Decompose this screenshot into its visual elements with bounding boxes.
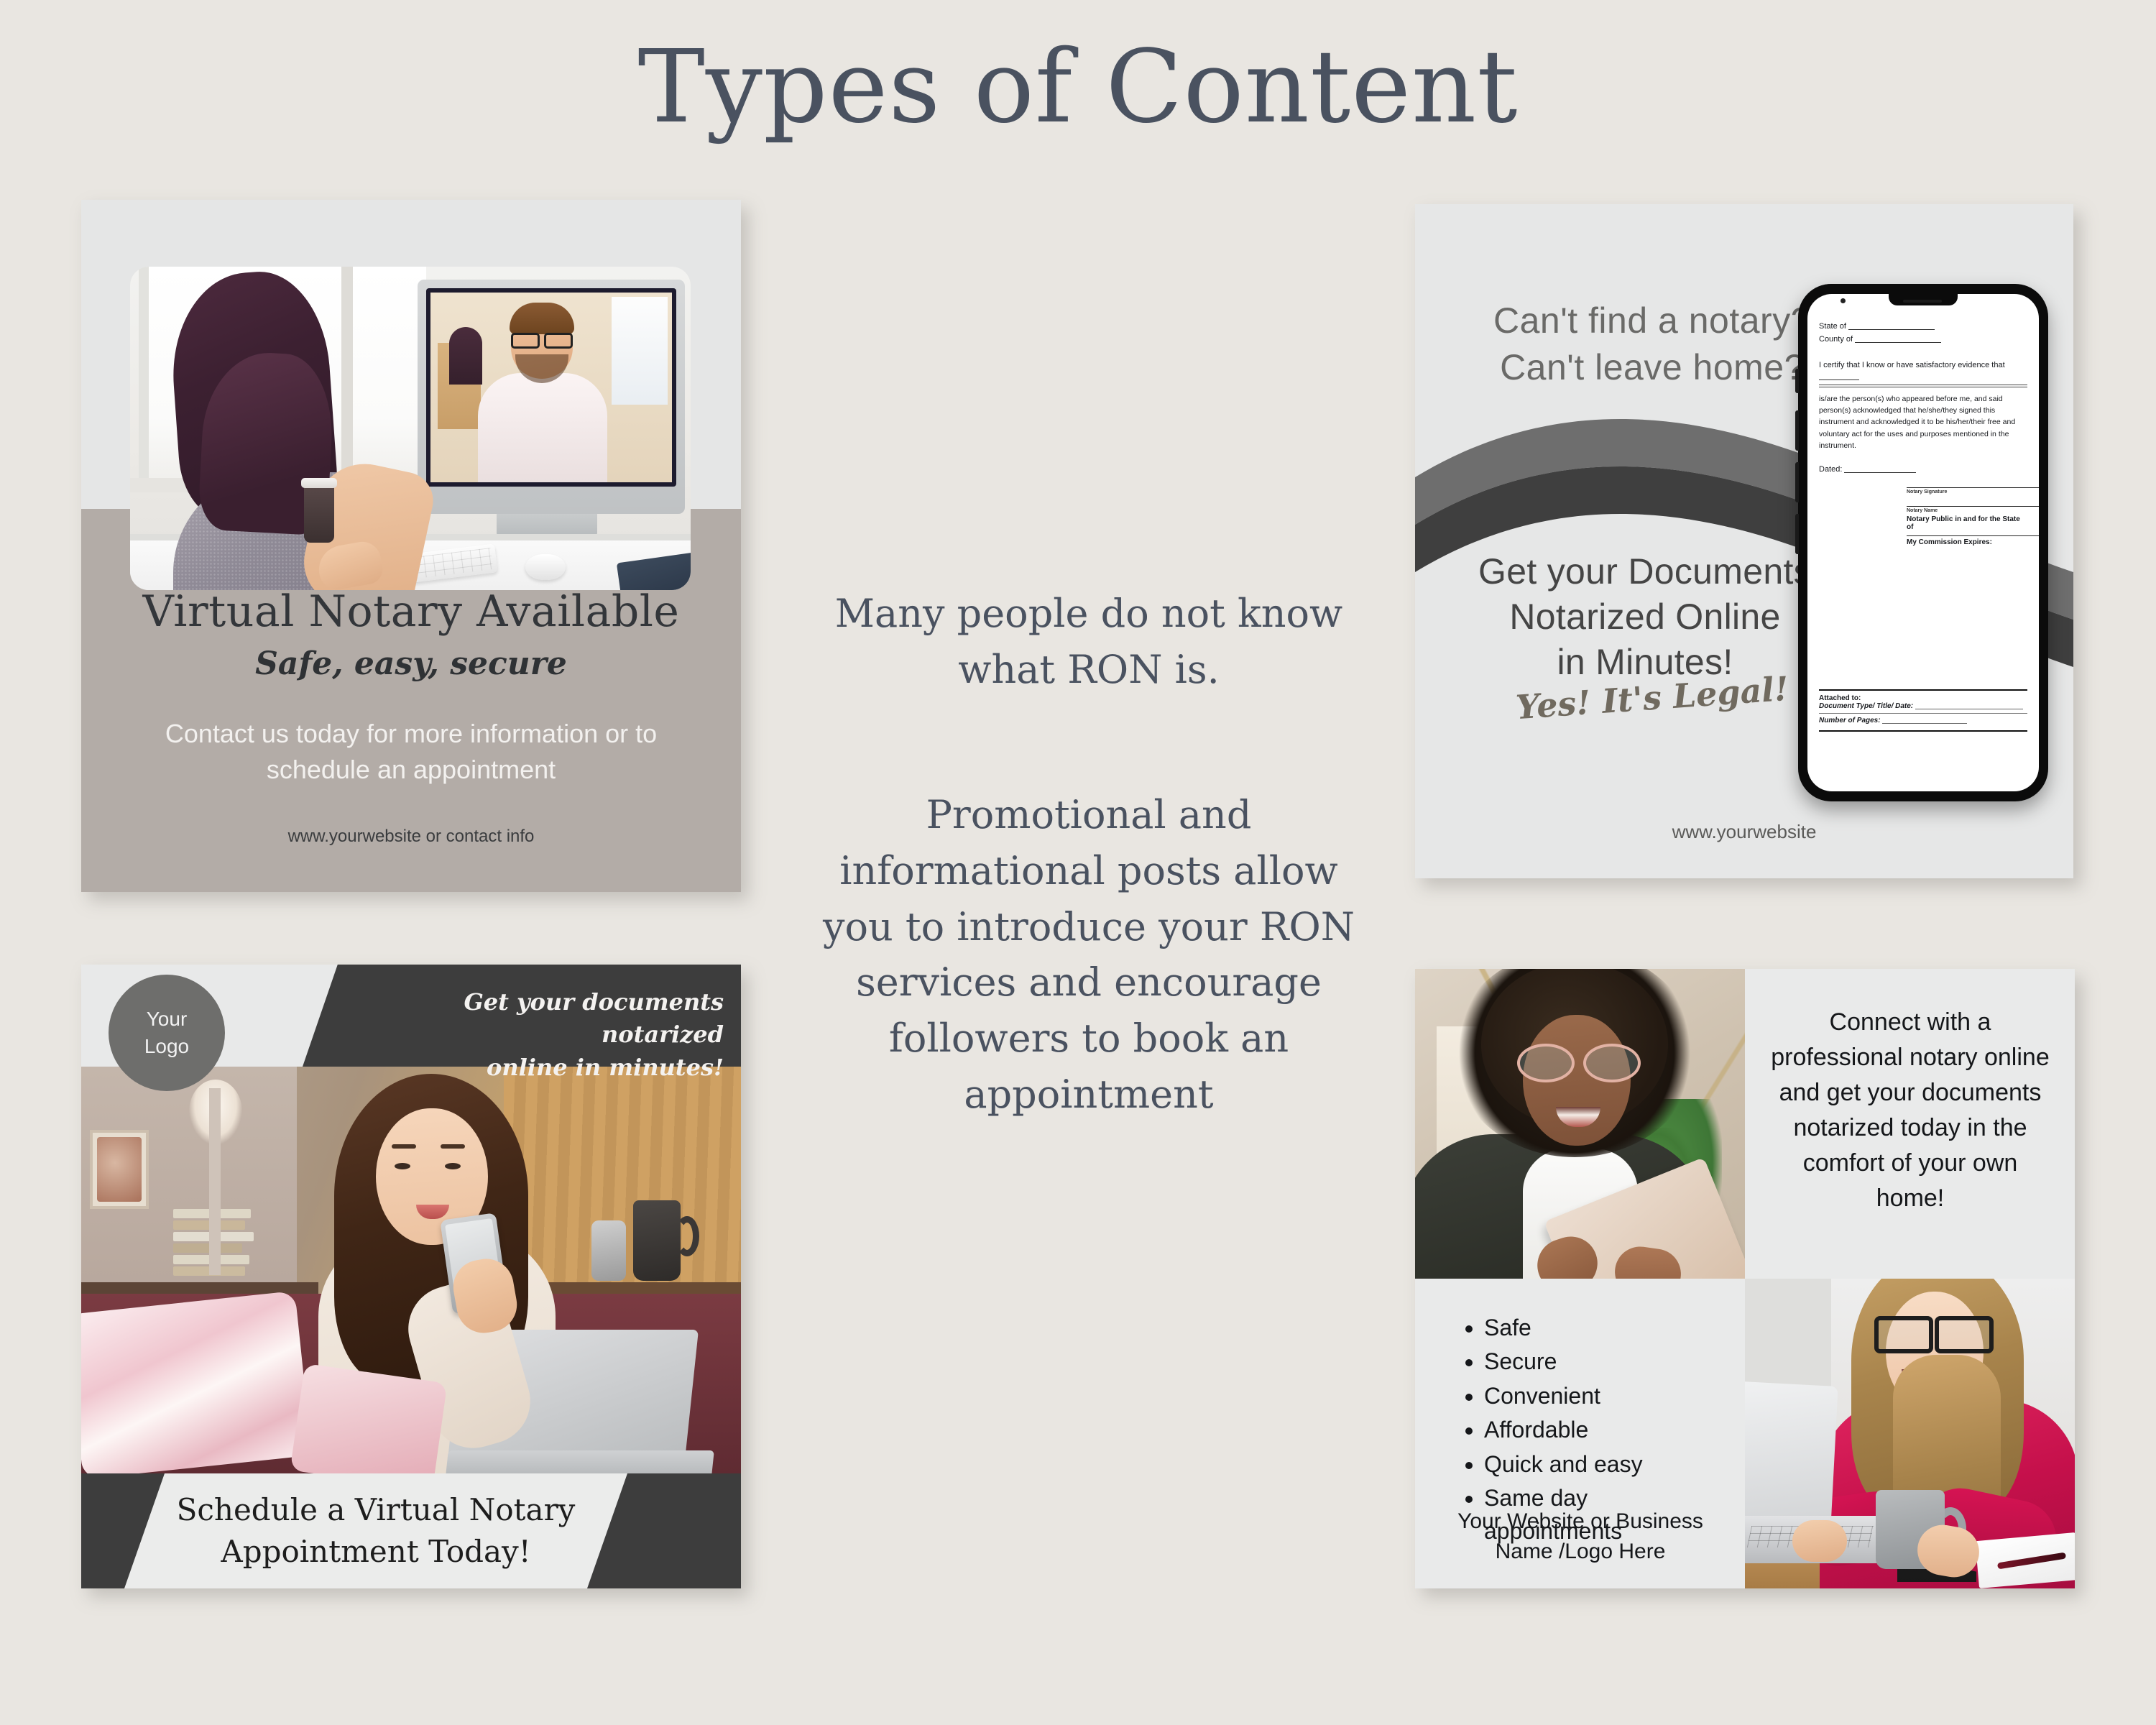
- list-item: Quick and easy: [1484, 1448, 1721, 1481]
- card3-footer-text: Schedule a Virtual Notary Appointment To…: [139, 1489, 613, 1573]
- card1-subhead: Safe, easy, secure: [81, 645, 741, 682]
- card4-photo-woman-with-laptop: [1745, 1279, 2075, 1588]
- doc-dated-label: Dated:: [1819, 465, 1842, 474]
- doc-pages-line: Number of Pages:: [1819, 717, 1881, 724]
- card2-footer: www.yourwebsite: [1415, 821, 2073, 843]
- doc-county-label: County of: [1819, 335, 1853, 344]
- page-title: Types of Content: [0, 34, 2156, 140]
- doc-notary-signature-caption: Notary Signature: [1907, 489, 2027, 494]
- phone-mockup: State of County of I certify that I know…: [1798, 284, 2048, 801]
- doc-notary-public-line: Notary Public in and for the State of: [1907, 515, 2027, 531]
- card4-photo-woman-with-tablet: [1415, 969, 1745, 1279]
- card1-photo-video-call: [130, 267, 691, 590]
- card1-footer: www.yourwebsite or contact info: [81, 827, 741, 847]
- card-schedule-virtual-notary[interactable]: Get your documents notarized online in m…: [81, 965, 741, 1588]
- card4-footer: Your Website or Business Name /Logo Here: [1429, 1506, 1731, 1567]
- center-paragraph-2: Promotional and informational posts allo…: [808, 787, 1369, 1123]
- list-item: Convenient: [1484, 1380, 1721, 1412]
- doc-document-type-line: Document Type/ Title/ Date:: [1819, 702, 1913, 710]
- card2-headline: Get your Documents Notarized Online in M…: [1429, 549, 1861, 685]
- doc-state-label: State of: [1819, 322, 1846, 331]
- doc-attached-to: Attached to:: [1819, 694, 2027, 702]
- card3-logo-line-2: Logo: [144, 1033, 189, 1060]
- center-paragraph-1: Many people do not know what RON is.: [812, 586, 1365, 698]
- card1-headline: Virtual Notary Available: [81, 586, 741, 637]
- doc-commission-line: My Commission Expires:: [1907, 538, 2027, 546]
- card1-body-text: Contact us today for more information or…: [149, 716, 673, 787]
- list-item: Secure: [1484, 1345, 1721, 1378]
- card-connect-with-notary[interactable]: Connect with a professional notary onlin…: [1415, 969, 2075, 1588]
- doc-notary-name-caption: Notary Name: [1907, 508, 2027, 513]
- list-item: Safe: [1484, 1312, 1721, 1344]
- slide-canvas: Types of Content: [0, 0, 2156, 1725]
- card3-logo-placeholder[interactable]: Your Logo: [109, 975, 225, 1091]
- card4-body-text: Connect with a professional notary onlin…: [1766, 1005, 2054, 1216]
- phone-screen-notary-document: State of County of I certify that I know…: [1807, 294, 2039, 791]
- card4-text-panel: Connect with a professional notary onlin…: [1745, 969, 2075, 1279]
- card3-logo-line-1: Your: [147, 1006, 188, 1033]
- list-item: Affordable: [1484, 1414, 1721, 1446]
- card4-bullets-panel: Safe Secure Convenient Affordable Quick …: [1415, 1279, 1745, 1588]
- doc-certify-text: I certify that I know or have satisfacto…: [1819, 361, 2005, 369]
- card3-photo-woman-with-phone: [81, 1067, 741, 1473]
- card3-header-text: Get your documents notarized online in m…: [350, 986, 724, 1084]
- card-virtual-notary-available[interactable]: Virtual Notary Available Safe, easy, sec…: [81, 200, 741, 892]
- doc-paragraph: is/are the person(s) who appeared before…: [1819, 393, 2027, 451]
